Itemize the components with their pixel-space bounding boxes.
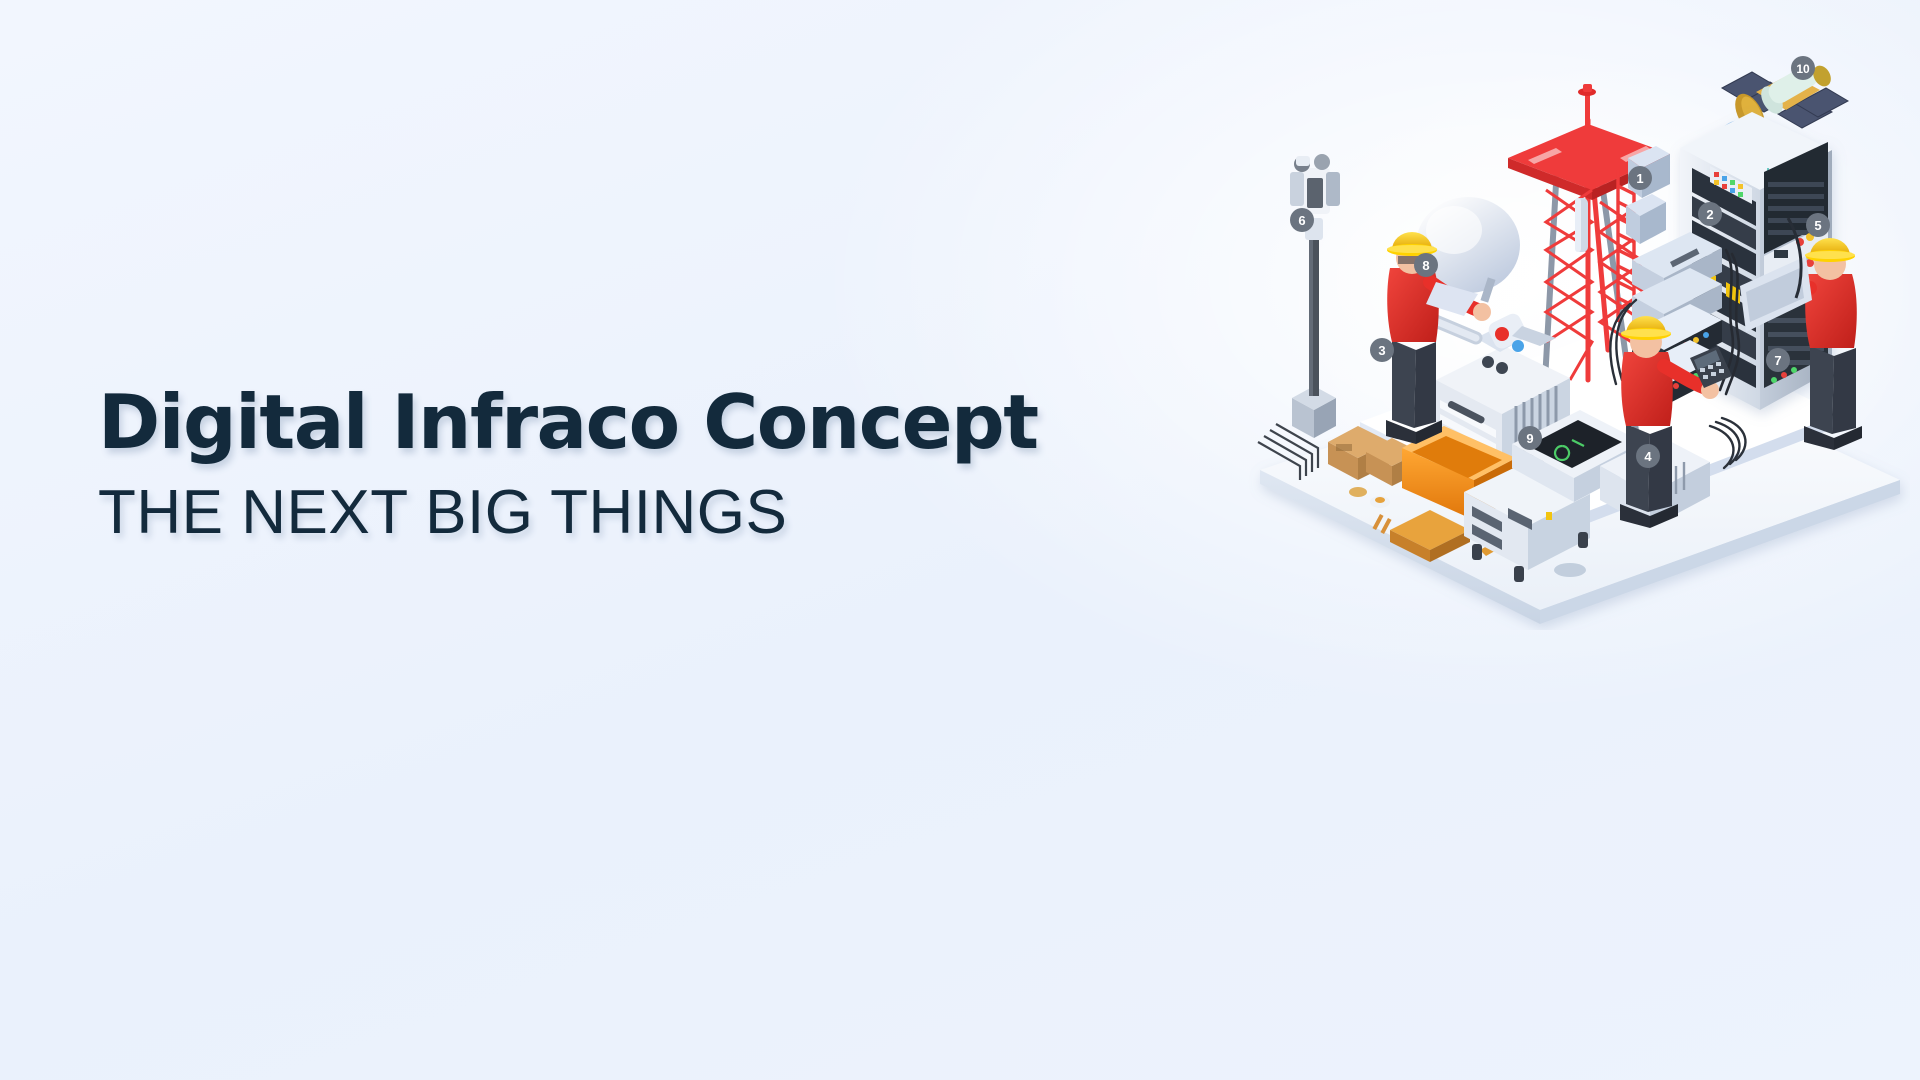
callout-label: 1: [1636, 171, 1643, 186]
callout-label: 9: [1526, 431, 1533, 446]
callout-badge-10[interactable]: 10: [1791, 56, 1815, 80]
page-subtitle: THE NEXT BIG THINGS: [98, 482, 1038, 544]
callout-label: 4: [1644, 449, 1652, 464]
callout-label: 5: [1814, 218, 1821, 233]
hero-illustration: 1 2 3 4 5 6 7 8: [1240, 50, 1910, 630]
callout-badge-3[interactable]: 3: [1370, 338, 1394, 362]
callout-badge-5[interactable]: 5: [1806, 213, 1830, 237]
callout-label: 3: [1378, 343, 1385, 358]
page-title: Digital Infraco Concept: [98, 385, 1038, 460]
callout-label: 7: [1774, 353, 1781, 368]
callout-label: 6: [1298, 213, 1305, 228]
callout-badge-7[interactable]: 7: [1766, 348, 1790, 372]
callout-badge-6[interactable]: 6: [1290, 208, 1314, 232]
isometric-telecom-scene-svg: 1 2 3 4 5 6 7 8: [1240, 50, 1910, 630]
hero-text-block: Digital Infraco Concept THE NEXT BIG THI…: [98, 385, 1038, 544]
platform-marker-dot: [1554, 563, 1586, 577]
callout-badge-8[interactable]: 8: [1414, 253, 1438, 277]
callout-badge-4[interactable]: 4: [1636, 444, 1660, 468]
callout-badge-1[interactable]: 1: [1628, 166, 1652, 190]
callout-badge-2[interactable]: 2: [1698, 202, 1722, 226]
callout-label: 8: [1422, 258, 1429, 273]
callout-label: 2: [1706, 207, 1713, 222]
callout-label: 10: [1796, 62, 1810, 76]
callout-badge-9[interactable]: 9: [1518, 426, 1542, 450]
